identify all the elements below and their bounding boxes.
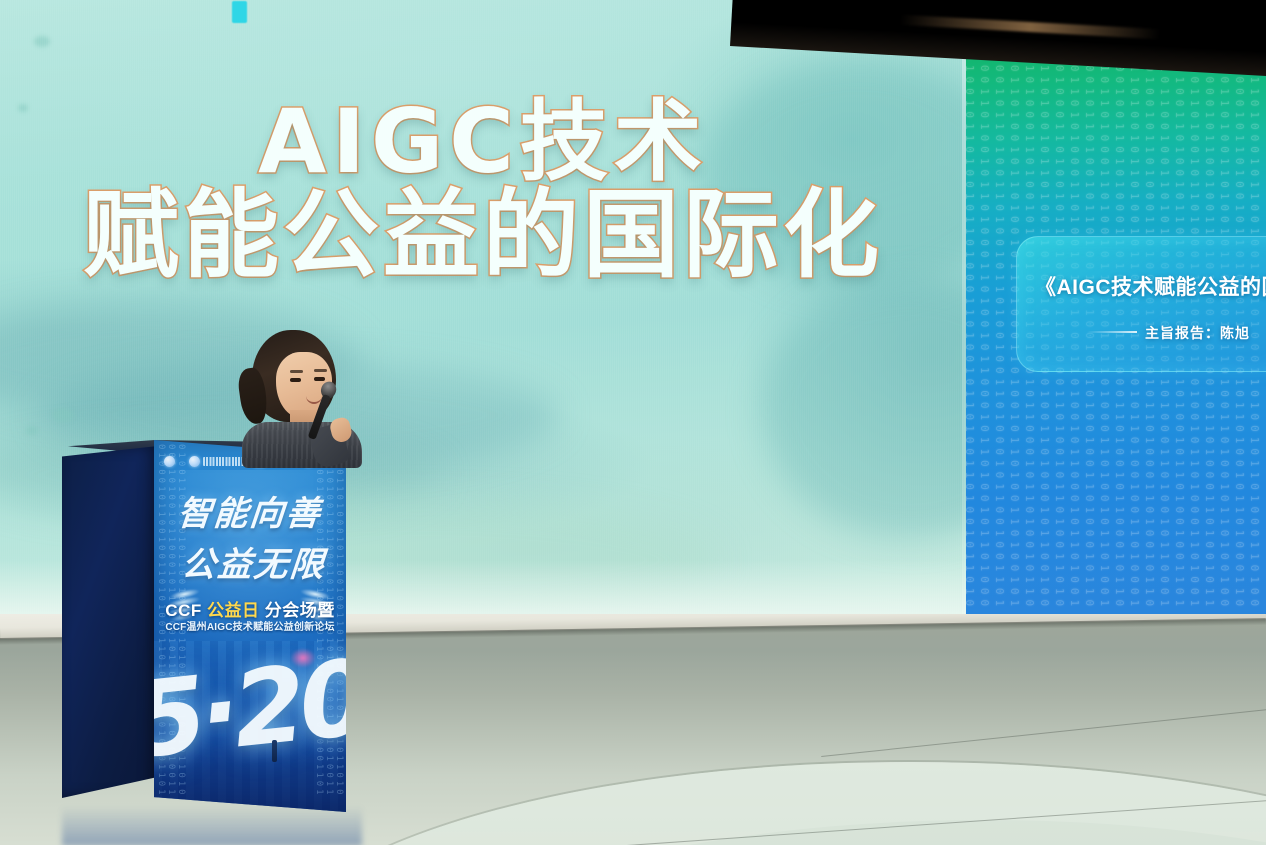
- decorative-speck: [52, 408, 74, 422]
- talk-speaker-label: 主旨报告：陈旭: [1145, 323, 1250, 343]
- speaker-person: [228, 330, 388, 460]
- calligraphy-line-2: 公益无限: [156, 537, 346, 586]
- decorative-speck: [34, 36, 50, 47]
- emblem-icon: [164, 456, 175, 467]
- talk-title: 《AIGC技术赋能公益的国: [1035, 271, 1266, 301]
- stage-photo: AIGC技术 赋能公益的国际化 010011010001011001001101…: [0, 0, 1266, 845]
- lectern: 0100110100010110010011010100011010010110…: [62, 440, 362, 820]
- floor-seam: [821, 708, 1266, 757]
- lectern-calligraphy: 智能向善 公益无限: [154, 486, 346, 586]
- eyebrow: [290, 370, 303, 373]
- screen-title-line-1: AIGC技术: [0, 96, 966, 188]
- screen-title-line-2: 赋能公益的国际化: [0, 184, 966, 288]
- calligraphy-line-1: 智能向善: [154, 486, 346, 535]
- silhouette-figure: [272, 740, 277, 762]
- cyan-pixel-artifact: [232, 1, 247, 23]
- eye: [314, 377, 325, 381]
- lectern-front-panel: 0100110100010110010011010100011010010110…: [154, 440, 346, 812]
- decorative-speck: [26, 426, 38, 435]
- eyebrow: [314, 369, 327, 372]
- sponsor-logo-1: [164, 455, 175, 468]
- kite-graphic: [290, 648, 316, 668]
- eye: [290, 378, 301, 382]
- divider: [1087, 331, 1137, 333]
- emblem-icon: [189, 456, 200, 467]
- event-subtitle: CCF温州AIGC技术赋能公益创新论坛: [154, 618, 346, 633]
- date-graphic-520: 5·20: [154, 636, 346, 782]
- talk-info-card: 《AIGC技术赋能公益的国 主旨报告：陈旭: [1016, 236, 1266, 372]
- lectern-side-panel: [62, 446, 158, 798]
- screen-title-block: AIGC技术 赋能公益的国际化: [0, 96, 966, 287]
